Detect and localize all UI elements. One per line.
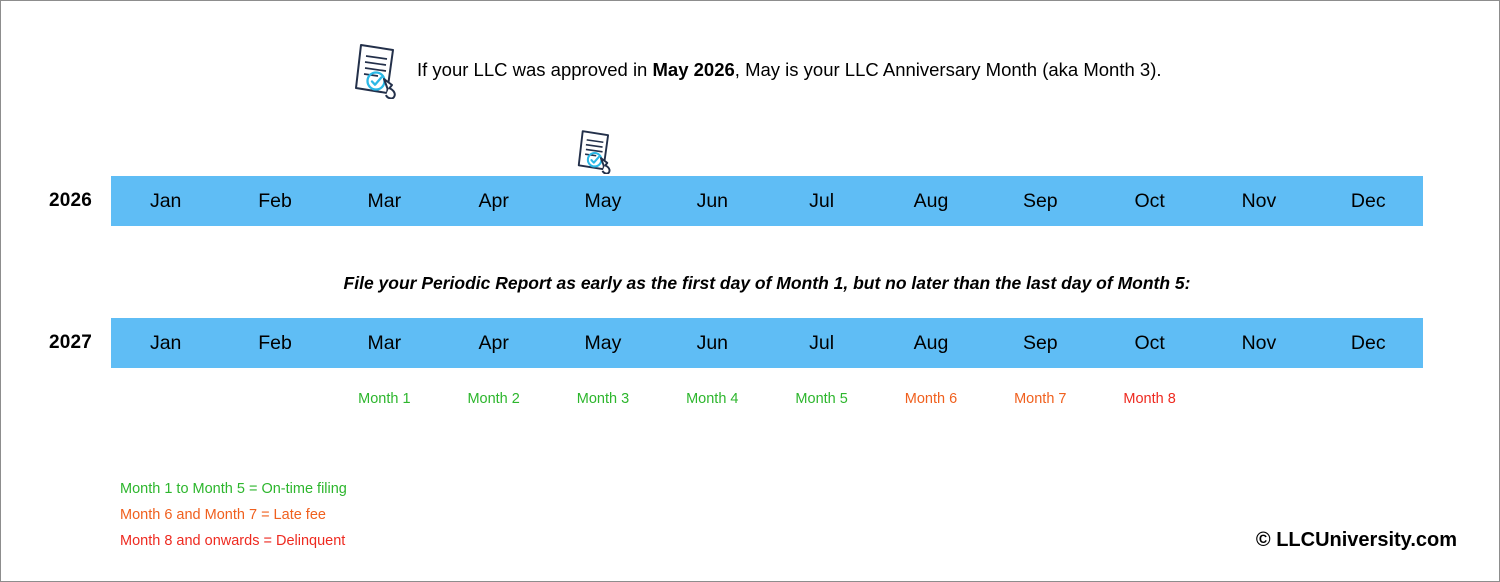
year-label-2027: 2027 bbox=[49, 318, 92, 368]
header-text-bold: May 2026 bbox=[653, 59, 735, 80]
month-cell-dec: Dec bbox=[1314, 176, 1423, 226]
month-cell-mar: Mar bbox=[330, 318, 439, 368]
month-number-3: Month 3 bbox=[548, 389, 657, 409]
month-number-1: Month 1 bbox=[330, 389, 439, 409]
month-cell-apr: Apr bbox=[439, 176, 548, 226]
month-bar-2026: Jan Feb Mar Apr May Jun Jul Aug Sep Oct … bbox=[111, 176, 1423, 226]
month-cell-oct: Oct bbox=[1095, 318, 1204, 368]
month-cell-jan: Jan bbox=[111, 318, 220, 368]
month-number-slot bbox=[111, 389, 220, 409]
month-number-row: Month 1 Month 2 Month 3 Month 4 Month 5 … bbox=[111, 389, 1423, 409]
month-number-8: Month 8 bbox=[1095, 389, 1204, 409]
document-stamp-icon bbox=[353, 41, 405, 99]
month-cell-dec: Dec bbox=[1314, 318, 1423, 368]
legend: Month 1 to Month 5 = On-time filing Mont… bbox=[120, 476, 347, 554]
copyright-footer: © LLCUniversity.com bbox=[1256, 529, 1457, 552]
month-cell-nov: Nov bbox=[1204, 318, 1313, 368]
year-label-2026: 2026 bbox=[49, 176, 92, 226]
month-cell-jan: Jan bbox=[111, 176, 220, 226]
month-cell-feb: Feb bbox=[220, 176, 329, 226]
month-cell-sep: Sep bbox=[986, 176, 1095, 226]
filing-window-instruction: File your Periodic Report as early as th… bbox=[111, 273, 1423, 294]
legend-item-on-time: Month 1 to Month 5 = On-time filing bbox=[120, 476, 347, 502]
month-cell-may: May bbox=[548, 318, 657, 368]
month-cell-aug: Aug bbox=[876, 318, 985, 368]
month-number-6: Month 6 bbox=[876, 389, 985, 409]
header-callout: If your LLC was approved in May 2026, Ma… bbox=[353, 41, 1162, 99]
anniversary-marker-icon bbox=[576, 128, 618, 179]
legend-item-delinquent: Month 8 and onwards = Delinquent bbox=[120, 528, 347, 554]
month-cell-jun: Jun bbox=[658, 176, 767, 226]
month-cell-nov: Nov bbox=[1204, 176, 1313, 226]
header-text-prefix: If your LLC was approved in bbox=[417, 59, 653, 80]
month-cell-oct: Oct bbox=[1095, 176, 1204, 226]
month-cell-jun: Jun bbox=[658, 318, 767, 368]
month-cell-jul: Jul bbox=[767, 176, 876, 226]
month-number-5: Month 5 bbox=[767, 389, 876, 409]
month-number-slot bbox=[220, 389, 329, 409]
month-cell-sep: Sep bbox=[986, 318, 1095, 368]
timeline-row-2026: 2026 Jan Feb Mar Apr May Jun Jul Aug Sep… bbox=[1, 176, 1500, 226]
month-cell-feb: Feb bbox=[220, 318, 329, 368]
month-cell-apr: Apr bbox=[439, 318, 548, 368]
month-number-slot bbox=[1314, 389, 1423, 409]
timeline-row-2027: 2027 Jan Feb Mar Apr May Jun Jul Aug Sep… bbox=[1, 318, 1500, 368]
infographic-canvas: If your LLC was approved in May 2026, Ma… bbox=[0, 0, 1500, 582]
month-cell-jul: Jul bbox=[767, 318, 876, 368]
month-number-4: Month 4 bbox=[658, 389, 767, 409]
legend-item-late-fee: Month 6 and Month 7 = Late fee bbox=[120, 502, 347, 528]
month-cell-may: May bbox=[548, 176, 657, 226]
month-cell-aug: Aug bbox=[876, 176, 985, 226]
header-text-suffix: , May is your LLC Anniversary Month (aka… bbox=[735, 59, 1162, 80]
month-number-7: Month 7 bbox=[986, 389, 1095, 409]
header-callout-text: If your LLC was approved in May 2026, Ma… bbox=[417, 61, 1162, 80]
month-bar-2027: Jan Feb Mar Apr May Jun Jul Aug Sep Oct … bbox=[111, 318, 1423, 368]
month-cell-mar: Mar bbox=[330, 176, 439, 226]
month-number-2: Month 2 bbox=[439, 389, 548, 409]
month-number-slot bbox=[1204, 389, 1313, 409]
